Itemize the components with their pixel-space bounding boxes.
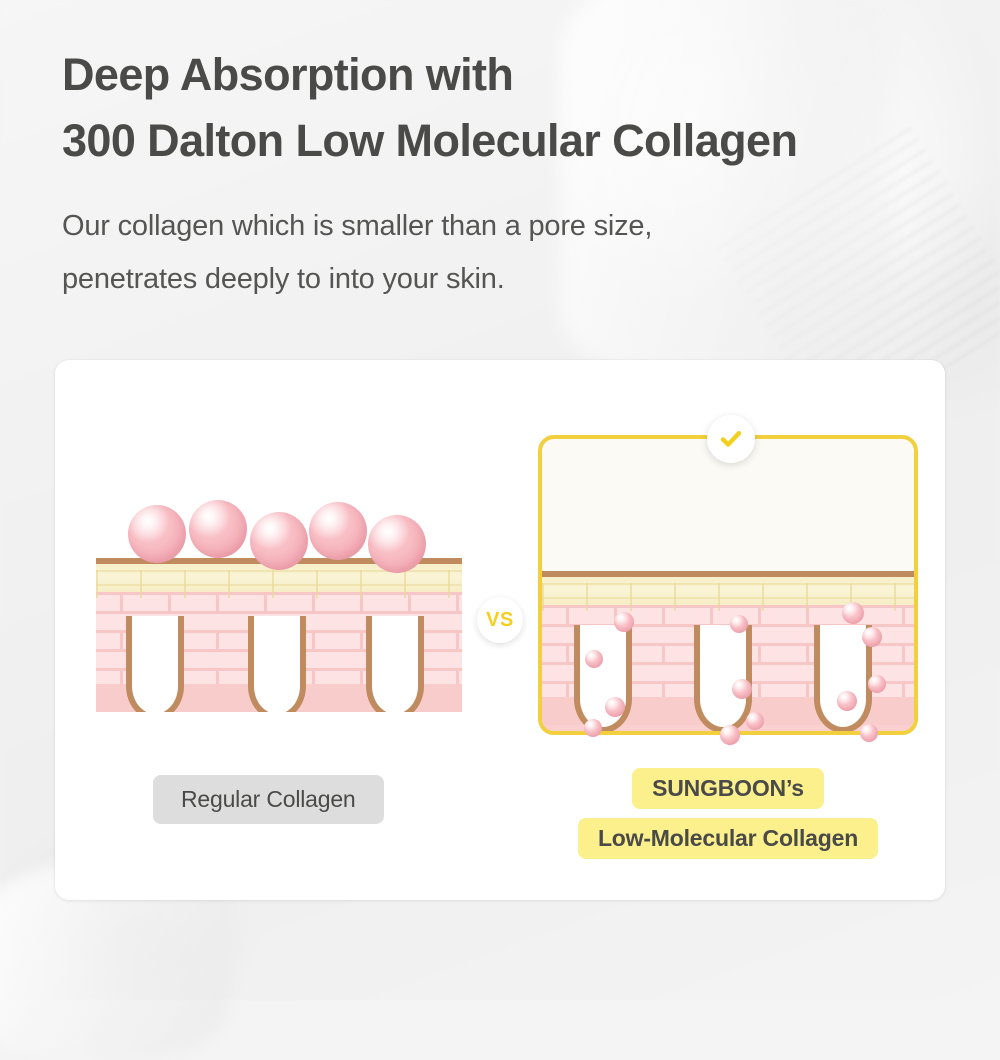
pore-left-3 [366,616,424,712]
collagen-particle-11 [868,675,886,693]
pore-right-1 [574,625,632,731]
collagen-sphere-5 [368,515,426,573]
pore-left-1 [126,616,184,712]
collagen-sphere-3 [250,512,308,570]
regular-collagen-diagram [96,495,476,720]
headings-block: Deep Absorption with 300 Dalton Low Mole… [62,42,962,306]
subtitle-line-2: penetrates deeply to into your skin. [62,253,962,306]
collagen-particle-2 [585,650,603,668]
collagen-particle-1 [614,612,634,632]
collagen-particle-5 [730,615,748,633]
subtitle-block: Our collagen which is smaller than a por… [62,200,962,306]
collagen-particle-6 [732,679,752,699]
collagen-particle-3 [605,697,625,717]
page-title-line-2: 300 Dalton Low Molecular Collagen [62,108,962,174]
pore-right-2 [694,625,752,731]
epidermis-layer-right [542,571,914,605]
low-molecular-collagen-label: Low-Molecular Collagen [578,818,878,859]
collagen-particle-4 [584,719,602,737]
collagen-particle-12 [837,691,857,711]
subtitle-line-1: Our collagen which is smaller than a por… [62,200,962,253]
regular-collagen-label: Regular Collagen [153,775,384,824]
collagen-sphere-2 [189,500,247,558]
comparison-card: VS Regular Collagen SUNGBOON’s Low-Molec… [55,360,945,900]
check-icon [718,426,744,452]
sungboon-labels-group: SUNGBOON’s Low-Molecular Collagen [538,768,918,859]
collagen-sphere-1 [128,505,186,563]
collagen-particle-13 [860,724,878,742]
collagen-particle-7 [746,712,764,730]
skin-cross-section-left [96,558,462,712]
collagen-particle-10 [862,627,882,647]
collagen-particle-9 [842,602,864,624]
collagen-sphere-4 [309,502,367,560]
epidermis-brick-pattern [96,570,462,598]
check-badge [707,415,755,463]
pore-left-2 [248,616,306,712]
low-molecular-collagen-diagram [538,435,918,735]
collagen-particle-8 [720,725,740,745]
vs-badge: VS [477,597,523,643]
page-title-line-1: Deep Absorption with [62,42,962,108]
sungboon-brand-label: SUNGBOON’s [632,768,824,809]
